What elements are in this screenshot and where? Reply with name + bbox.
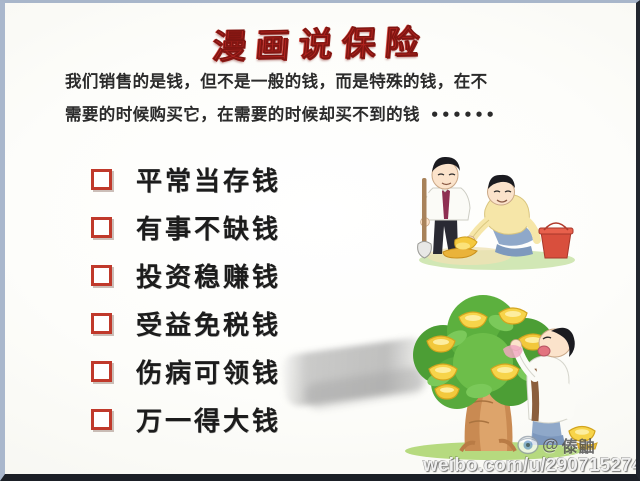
checkbox-icon [91, 409, 112, 430]
list-item: 万一得大钱 [91, 395, 351, 443]
list-item-label: 投资稳赚钱 [136, 257, 281, 294]
checkbox-icon [91, 313, 112, 334]
list-item-label: 受益免税钱 [136, 305, 281, 342]
weibo-url-watermark: weibo.com/u/2907152747 [423, 455, 636, 474]
intro-ellipsis: •••••• [430, 106, 497, 124]
illustration-two-men-digging-gold [397, 148, 597, 283]
gold-ingot-icon [435, 385, 459, 400]
checkbox-icon [91, 217, 112, 238]
list-item-label: 万一得大钱 [136, 401, 281, 438]
list-item-label: 伤病可领钱 [136, 353, 281, 390]
list-item: 平常当存钱 [91, 155, 351, 203]
page-title: 漫画说保险 [5, 10, 636, 72]
weibo-at-symbol: @ [542, 435, 559, 455]
list-item: 有事不缺钱 [91, 203, 351, 251]
red-bucket-icon [539, 223, 573, 258]
benefits-list: 平常当存钱 有事不缺钱 投资稳赚钱 受益免税钱 伤病可领钱 万一得大钱 [91, 155, 351, 443]
poster-image: 漫画说保险 我们销售的是钱，但不是一般的钱，而是特殊的钱，在不 需要的时候购买它… [0, 0, 640, 481]
checkbox-icon [91, 265, 112, 286]
weibo-eye-icon [517, 435, 539, 455]
list-item-label: 有事不缺钱 [136, 209, 281, 246]
checkbox-icon [91, 169, 112, 190]
list-item-label: 平常当存钱 [136, 161, 281, 198]
weibo-account-name: 傣鼬 [562, 433, 596, 457]
intro-line-1: 我们销售的是钱，但不是一般的钱，而是特殊的钱，在不 [65, 72, 488, 91]
list-item: 伤病可领钱 [91, 347, 351, 395]
list-item: 受益免税钱 [91, 299, 351, 347]
intro-line-2: 需要的时候购买它，在需要的时候却买不到的钱 [65, 105, 420, 124]
intro-paragraph: 我们销售的是钱，但不是一般的钱，而是特殊的钱，在不 需要的时候购买它，在需要的时… [65, 65, 590, 132]
poster-canvas: 漫画说保险 我们销售的是钱，但不是一般的钱，而是特殊的钱，在不 需要的时候购买它… [5, 3, 636, 474]
checkbox-icon [91, 361, 112, 382]
list-item: 投资稳赚钱 [91, 251, 351, 299]
weibo-watermark-badge: @ 傣鼬 [517, 433, 596, 457]
